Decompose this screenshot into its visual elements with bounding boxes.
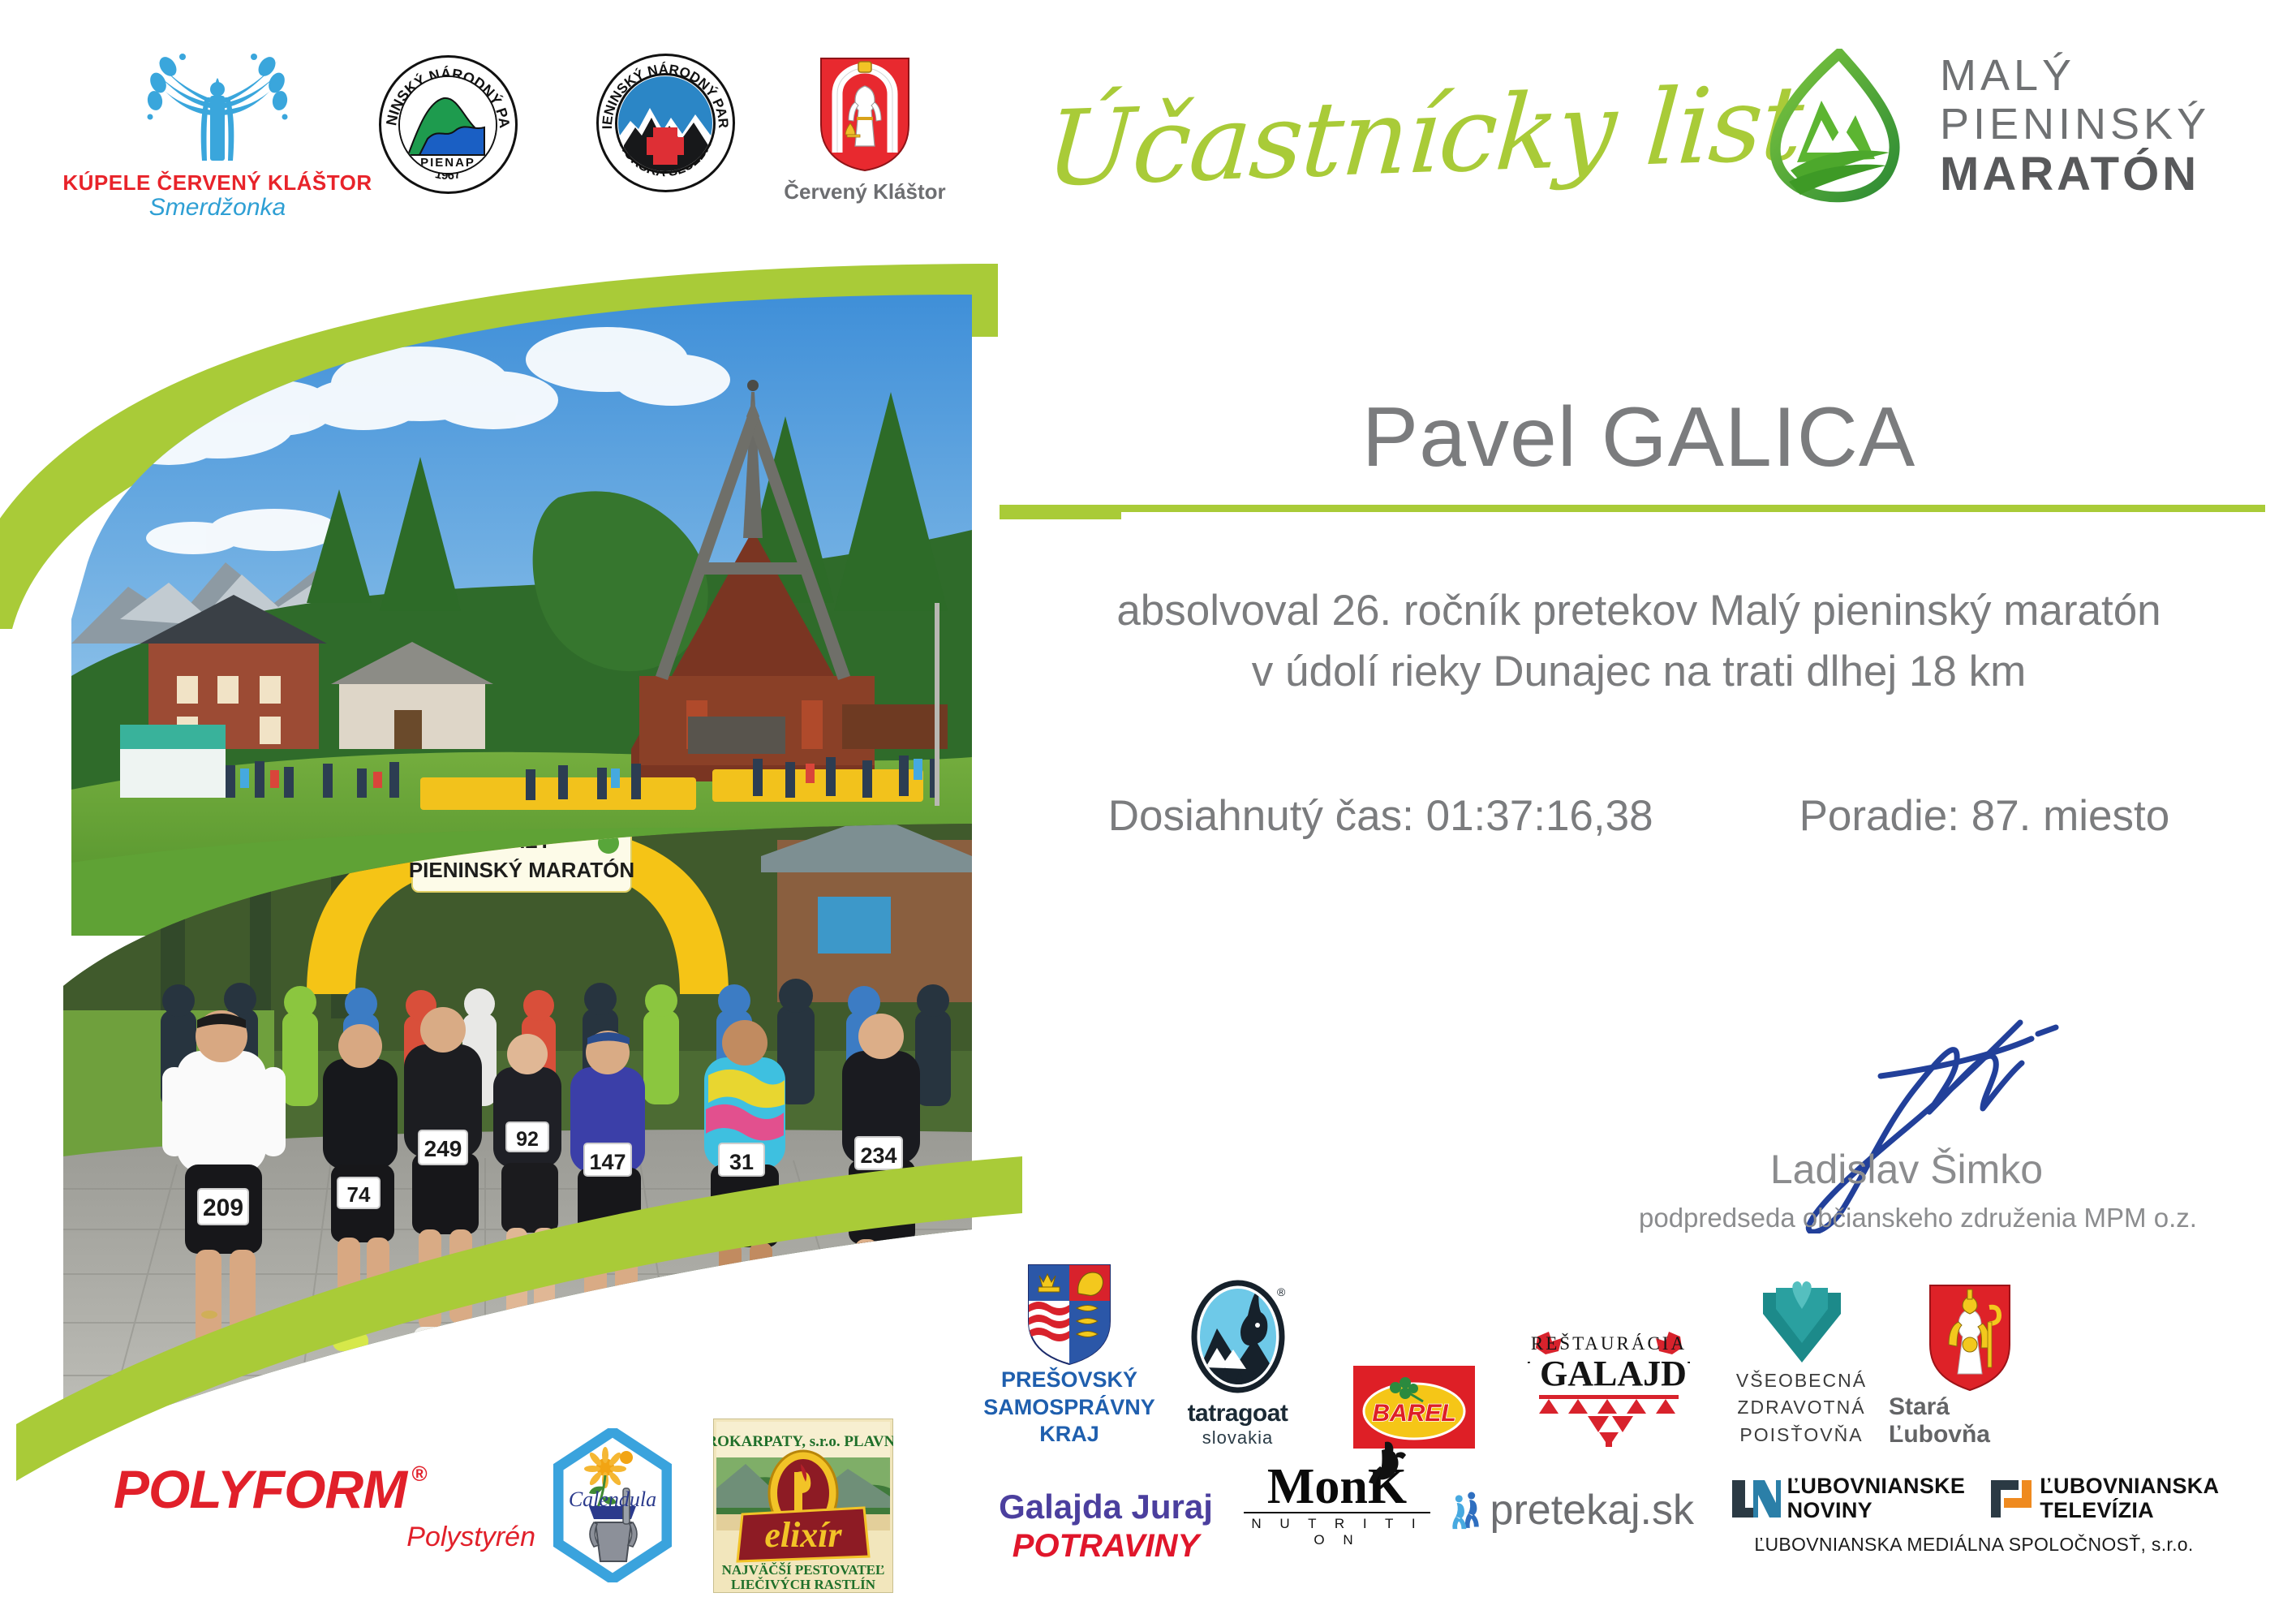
description-line-1: absolvoval 26. ročník pretekov Malý pien… (998, 580, 2280, 641)
bishop-crest-icon (1928, 1283, 2012, 1393)
svg-text:234: 234 (860, 1143, 896, 1168)
chamois-mountain-oval-icon: ® (1189, 1278, 1287, 1400)
elixir-bottom-2: LIEČIVÝCH RASTLÍN (731, 1577, 876, 1592)
clover-oval-icon: BAREL (1353, 1366, 1475, 1449)
sponsor-monk-nutrition: MonK N U T R I T I O N (1223, 1465, 1451, 1548)
green-leaf-mountain-icon (1765, 49, 1911, 203)
registered-mark: ® (411, 1462, 426, 1487)
svg-text:PIENINSKÝ MARATÓN: PIENINSKÝ MARATÓN (409, 858, 634, 882)
certificate-page: KÚPELE ČERVENÝ KLÁŠTOR Smerdžonka PIENIN… (0, 0, 2296, 1623)
logo-pieninsky-narodny-park: PIENINSKÝ NÁRODNÝ PARK 1967 PIENAP (339, 49, 557, 194)
result-place-label: Poradie: (1799, 792, 1959, 840)
sponsor-vzp: VŠEOBECNÁ ZDRAVOTNÁ POISŤOVŇA (1714, 1281, 1889, 1449)
svg-text:®: ® (1277, 1285, 1286, 1298)
running-monk-icon (1361, 1437, 1409, 1486)
elixir-wordmark: elixír (764, 1515, 842, 1555)
svg-text:REŠTAURÁCIA: REŠTAURÁCIA (1531, 1332, 1687, 1354)
svg-text:BAREL: BAREL (1372, 1400, 1455, 1427)
sponsor-u-galajdu: REŠTAURÁCIA U GALAJDU (1503, 1319, 1714, 1449)
ln-caption: ĽUBOVNIANSKE NOVINY (1787, 1474, 1966, 1522)
recipient-name: Pavel GALICA (998, 390, 2280, 486)
calendula-wordmark: Calendula (569, 1487, 656, 1511)
mpm-line-2: PIENINSKÝ (1940, 102, 2210, 146)
result-place-value: 87. miesto (1971, 792, 2170, 840)
water-angel-icon (140, 49, 295, 170)
svg-text:147: 147 (589, 1150, 626, 1174)
mpm-wordmark: MALÝ PIENINSKÝ MARATÓN (1940, 54, 2210, 198)
presov-region-crest-icon (1026, 1263, 1112, 1367)
photo-panel: MALÝ PIENINSKÝ MARATÓN (0, 207, 978, 1416)
result-place: Poradie: 87. miesto (1799, 791, 2170, 841)
logo-horska-sluzba: PIENINSKÝ NÁRODNÝ PARK HORSKÁ SLUŽBA (557, 49, 774, 192)
agrokarpaty-caption: AGROKARPATY, s.r.o. PLAVNICA (713, 1433, 893, 1450)
sponsor-tatragoat: ® tatragoat slovakia (1150, 1278, 1325, 1449)
tatragoat-subcaption: slovakia (1202, 1427, 1273, 1449)
polyform-subcaption: Polystyrén (114, 1522, 535, 1553)
sponsor-pretekaj-sk: pretekaj.sk (1451, 1465, 1694, 1541)
sponsor-stara-lubovna: Stará Ľubovňa (1889, 1283, 2051, 1449)
sponsor-agrokarpaty-elixir: AGROKARPATY, s.r.o. PLAVNICA elixír NAJV… (690, 1419, 917, 1593)
monk-subcaption: N U T R I T I O N (1244, 1512, 1430, 1548)
galajda-line-2: POTRAVINY (1013, 1528, 1199, 1565)
lt-logo-icon (1986, 1475, 2033, 1522)
folk-embroidery-icon: REŠTAURÁCIA U GALAJDU (1528, 1319, 1690, 1449)
mpm-line-1: MALÝ (1940, 54, 2210, 97)
polyform-wordmark: POLYFORM ® (114, 1458, 535, 1520)
obec-caption: Červený Kláštor (784, 179, 945, 204)
lt-caption: ĽUBOVNIANSKA TELEVÍZIA (2040, 1474, 2219, 1522)
mpm-brand-logo: MALÝ PIENINSKÝ MARATÓN (1765, 49, 2210, 203)
sponsor-row-2: Galajda Juraj POTRAVINY MonK N U T R I T… (988, 1465, 2286, 1611)
svg-text:U GALAJDU: U GALAJDU (1528, 1354, 1690, 1393)
mountain-river-seal-icon: PIENINSKÝ NÁRODNÝ PARK 1967 PIENAP (379, 55, 518, 194)
certificate-description: absolvoval 26. ročník pretekov Malý pien… (998, 580, 2280, 703)
elixir-bottom-1: NAJVÄČŠÍ PESTOVATEĽ (722, 1562, 885, 1578)
svg-text:74: 74 (347, 1182, 371, 1207)
sponsor-galajda-juraj: Galajda Juraj POTRAVINY (988, 1465, 1223, 1565)
presov-caption: PREŠOVSKÝ SAMOSPRÁVNY KRAJ (983, 1367, 1155, 1449)
description-line-2: v údolí rieky Dunajec na trati dlhej 18 … (998, 641, 2280, 702)
sponsor-calendula: Calendula (535, 1428, 690, 1582)
logo-cerveny-klastor-obec: Červený Kláštor (774, 49, 956, 204)
pretekaj-wordmark: pretekaj.sk (1490, 1486, 1694, 1535)
red-shield-monk-crest-icon (816, 55, 914, 173)
vzp-caption: VŠEOBECNÁ ZDRAVOTNÁ POISŤOVŇA (1736, 1367, 1867, 1449)
sponsor-polyform: POLYFORM ® Polystyrén (114, 1458, 535, 1553)
sponsor-row-left: POLYFORM ® Polystyrén (114, 1412, 933, 1599)
galajda-line-1: Galajda Juraj (999, 1487, 1213, 1526)
mortar-flower-hexagon-icon: Calendula (553, 1428, 672, 1582)
teal-chevron-heart-icon (1756, 1281, 1847, 1367)
signatory-name: Ladislav Šimko (1639, 1146, 2174, 1193)
signatory-role: podpredseda občianskeho združenia MPM o.… (1639, 1203, 2174, 1233)
result-time-value: 01:37:16,38 (1426, 792, 1653, 840)
page-title: Účastnícky list (1043, 63, 1806, 210)
ln-logo-icon (1729, 1475, 1781, 1522)
sponsor-presovsky-kraj: PREŠOVSKÝ SAMOSPRÁVNY KRAJ (988, 1263, 1150, 1449)
name-underline-rule (1000, 505, 2265, 512)
stara-lubovna-caption: Stará Ľubovňa (1889, 1393, 2051, 1449)
two-runners-icon (1451, 1479, 1482, 1541)
mpm-line-3: MARATÓN (1940, 151, 2210, 198)
sponsor-lubovnianska-medialna: ĽUBOVNIANSKE NOVINY ĽUBOVNIANSKA TELEVÍZ… (1694, 1465, 2254, 1556)
result-time: Dosiahnutý čas: 01:37:16,38 (1108, 791, 1653, 841)
logo-kupele-cerveny-klastor: KÚPELE ČERVENÝ KLÁŠTOR Smerdžonka (96, 49, 339, 221)
result-time-label: Dosiahnutý čas: (1108, 792, 1414, 840)
svg-text:31: 31 (729, 1150, 754, 1174)
svg-text:92: 92 (516, 1128, 539, 1151)
mountain-rescue-cross-seal-icon: PIENINSKÝ NÁRODNÝ PARK HORSKÁ SLUŽBA (596, 54, 735, 192)
svg-text:PIENAP: PIENAP (421, 156, 476, 170)
kupele-caption: KÚPELE ČERVENÝ KLÁŠTOR (62, 172, 372, 193)
svg-text:249: 249 (424, 1136, 462, 1161)
tatragoat-caption: tatragoat (1188, 1400, 1288, 1427)
sponsor-row-1: PREŠOVSKÝ SAMOSPRÁVNY KRAJ (988, 1246, 2286, 1449)
svg-text:209: 209 (203, 1195, 243, 1221)
signature-block: Ladislav Šimko podpredseda občianskeho z… (1639, 1006, 2174, 1233)
elixir-label-icon: AGROKARPATY, s.r.o. PLAVNICA elixír NAJV… (713, 1419, 893, 1593)
lms-footnote: ĽUBOVNIANSKA MEDIÁLNA SPOLOČNOSŤ, s.r.o. (1754, 1534, 2193, 1556)
sponsor-barel: BAREL (1325, 1366, 1503, 1449)
result-row: Dosiahnutý čas: 01:37:16,38 Poradie: 87.… (998, 791, 2280, 841)
